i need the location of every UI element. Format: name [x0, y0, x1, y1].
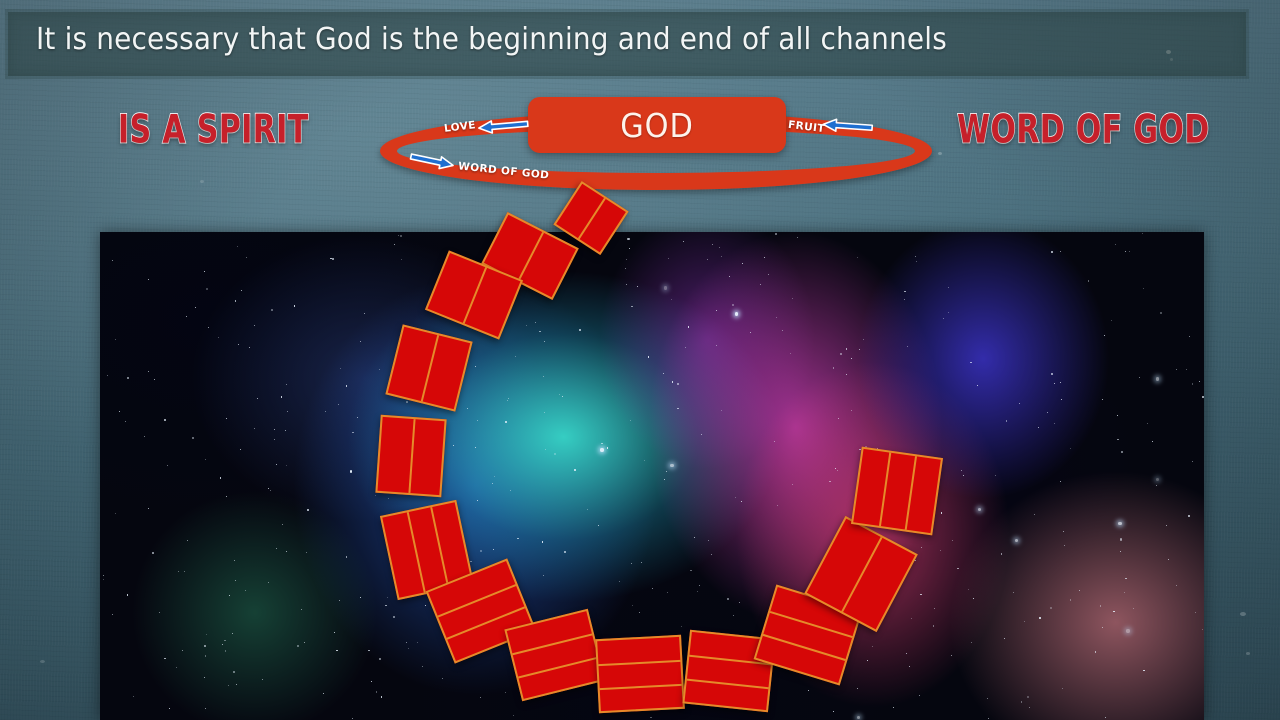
background-speck — [200, 180, 204, 183]
background-speck — [1246, 652, 1250, 655]
headline-left: IS A SPIRIT — [118, 107, 309, 153]
background-speck — [40, 660, 45, 663]
block-tablet — [595, 635, 685, 713]
block-tablet — [375, 415, 446, 497]
headline-right: WORD OF GOD — [957, 107, 1210, 153]
arrow-left-icon — [819, 116, 874, 141]
presentation-slide: It is necessary that God is the beginnin… — [0, 0, 1280, 720]
page-title: It is necessary that God is the beginnin… — [36, 22, 1106, 57]
god-label: GOD — [620, 106, 694, 145]
god-box[interactable]: GOD — [528, 97, 786, 153]
background-speck — [938, 152, 942, 155]
background-speck — [1240, 612, 1246, 616]
cycle-diagram: GOD LOVE FRUIT WORD OF GOD — [380, 96, 932, 192]
block-tablet — [851, 447, 943, 536]
